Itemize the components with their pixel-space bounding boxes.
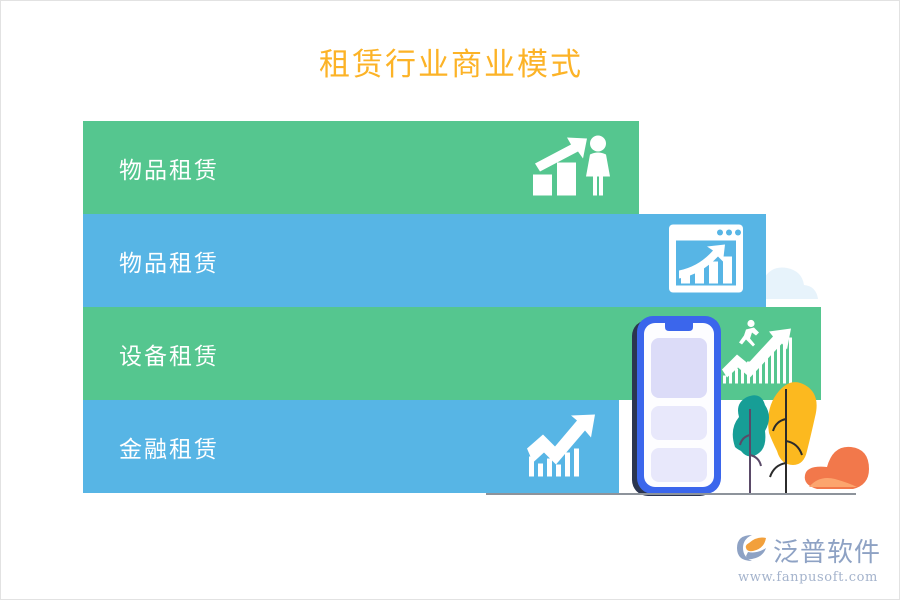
bar-label-4: 金融租赁: [119, 430, 219, 464]
page-title: 租赁行业商业模式: [1, 39, 900, 84]
fanpu-logo: 泛普软件 www.fanpusoft.com: [735, 532, 881, 585]
bar-label-1: 物品租赁: [119, 151, 219, 185]
smartphone-illustration: [629, 314, 727, 498]
trees-illustration: [731, 371, 871, 497]
logo-url: www.fanpusoft.com: [738, 570, 878, 585]
browser-window-chart-icon: [668, 223, 744, 298]
bar-label-2: 物品租赁: [119, 244, 219, 278]
coral-bush: [805, 447, 869, 489]
teal-tree: [733, 395, 769, 493]
bar-row-1[interactable]: 物品租赁: [83, 121, 639, 214]
bar-chart-arrow-person-icon: [531, 134, 617, 201]
zigzag-arrow-chart-icon: [525, 412, 599, 481]
logo-company-name: 泛普软件: [773, 532, 881, 569]
bar-row-2[interactable]: 物品租赁: [83, 214, 766, 307]
fanpu-logo-mark: [735, 533, 769, 568]
bar-row-4[interactable]: 金融租赁: [83, 400, 619, 493]
slide-canvas: 租赁行业商业模式 物品租赁: [0, 0, 900, 600]
bar-label-3: 设备租赁: [119, 337, 219, 371]
ground-line: [486, 493, 856, 495]
